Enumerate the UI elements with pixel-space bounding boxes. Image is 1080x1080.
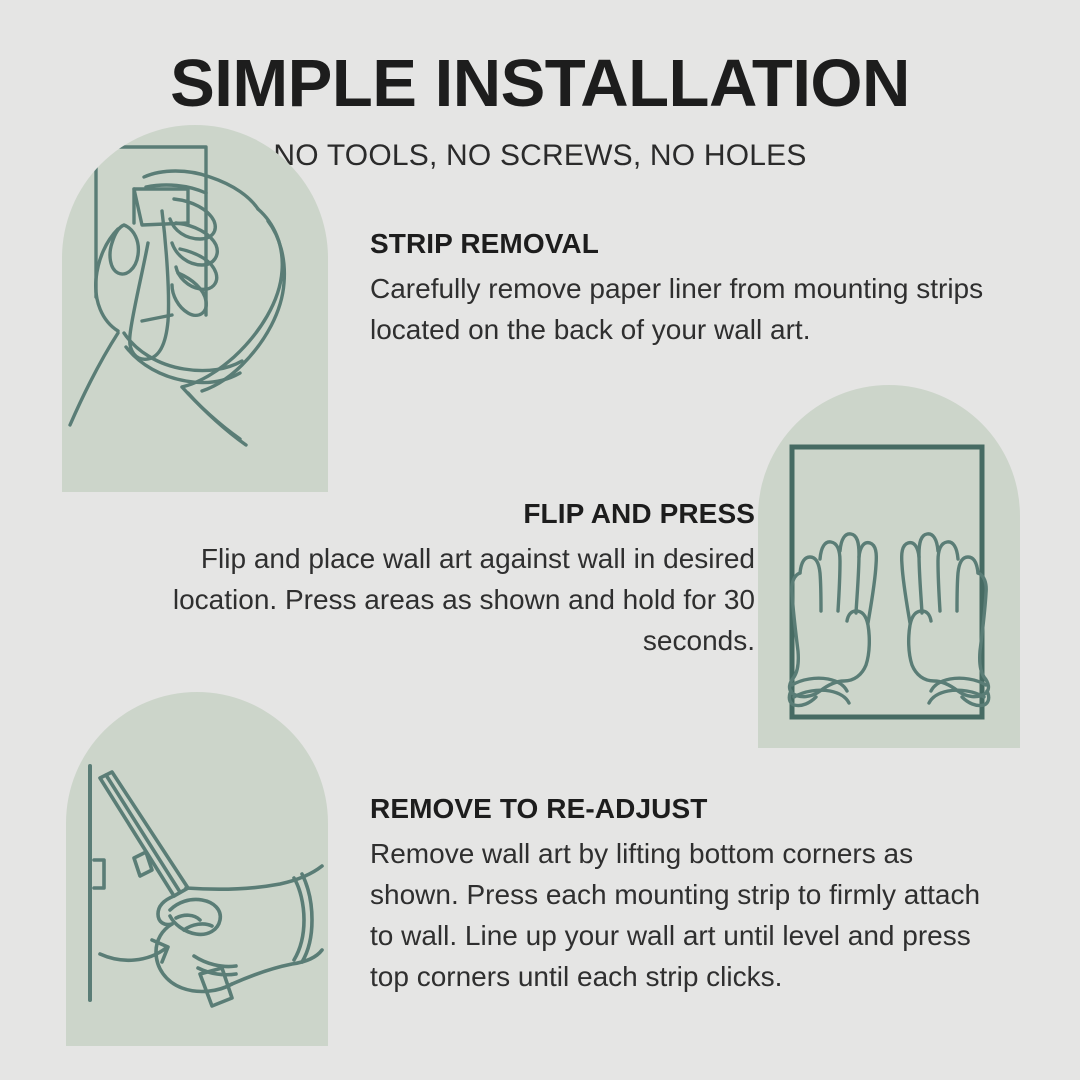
step-3-body: Remove wall art by lifting bottom corner… (370, 834, 1005, 998)
step-2-heading: FLIP AND PRESS (100, 498, 755, 530)
installation-infographic: SIMPLE INSTALLATION NO TOOLS, NO SCREWS,… (0, 0, 1080, 1080)
step-3-illustration-panel (66, 692, 328, 1046)
step-1-body: Carefully remove paper liner from mounti… (370, 269, 995, 351)
step-1-illustration-panel (62, 125, 328, 492)
step-1-text-block: STRIP REMOVAL Carefully remove paper lin… (370, 228, 995, 351)
step-2-text-block: FLIP AND PRESS Flip and place wall art a… (100, 498, 755, 662)
step-1-heading: STRIP REMOVAL (370, 228, 995, 260)
step-2-illustration-panel (758, 385, 1020, 748)
page-title: SIMPLE INSTALLATION (0, 0, 1080, 117)
arch-background-shape (62, 125, 328, 492)
step-3-heading: REMOVE TO RE-ADJUST (370, 793, 1005, 825)
step-3-text-block: REMOVE TO RE-ADJUST Remove wall art by l… (370, 793, 1005, 998)
step-2-body: Flip and place wall art against wall in … (100, 539, 755, 662)
